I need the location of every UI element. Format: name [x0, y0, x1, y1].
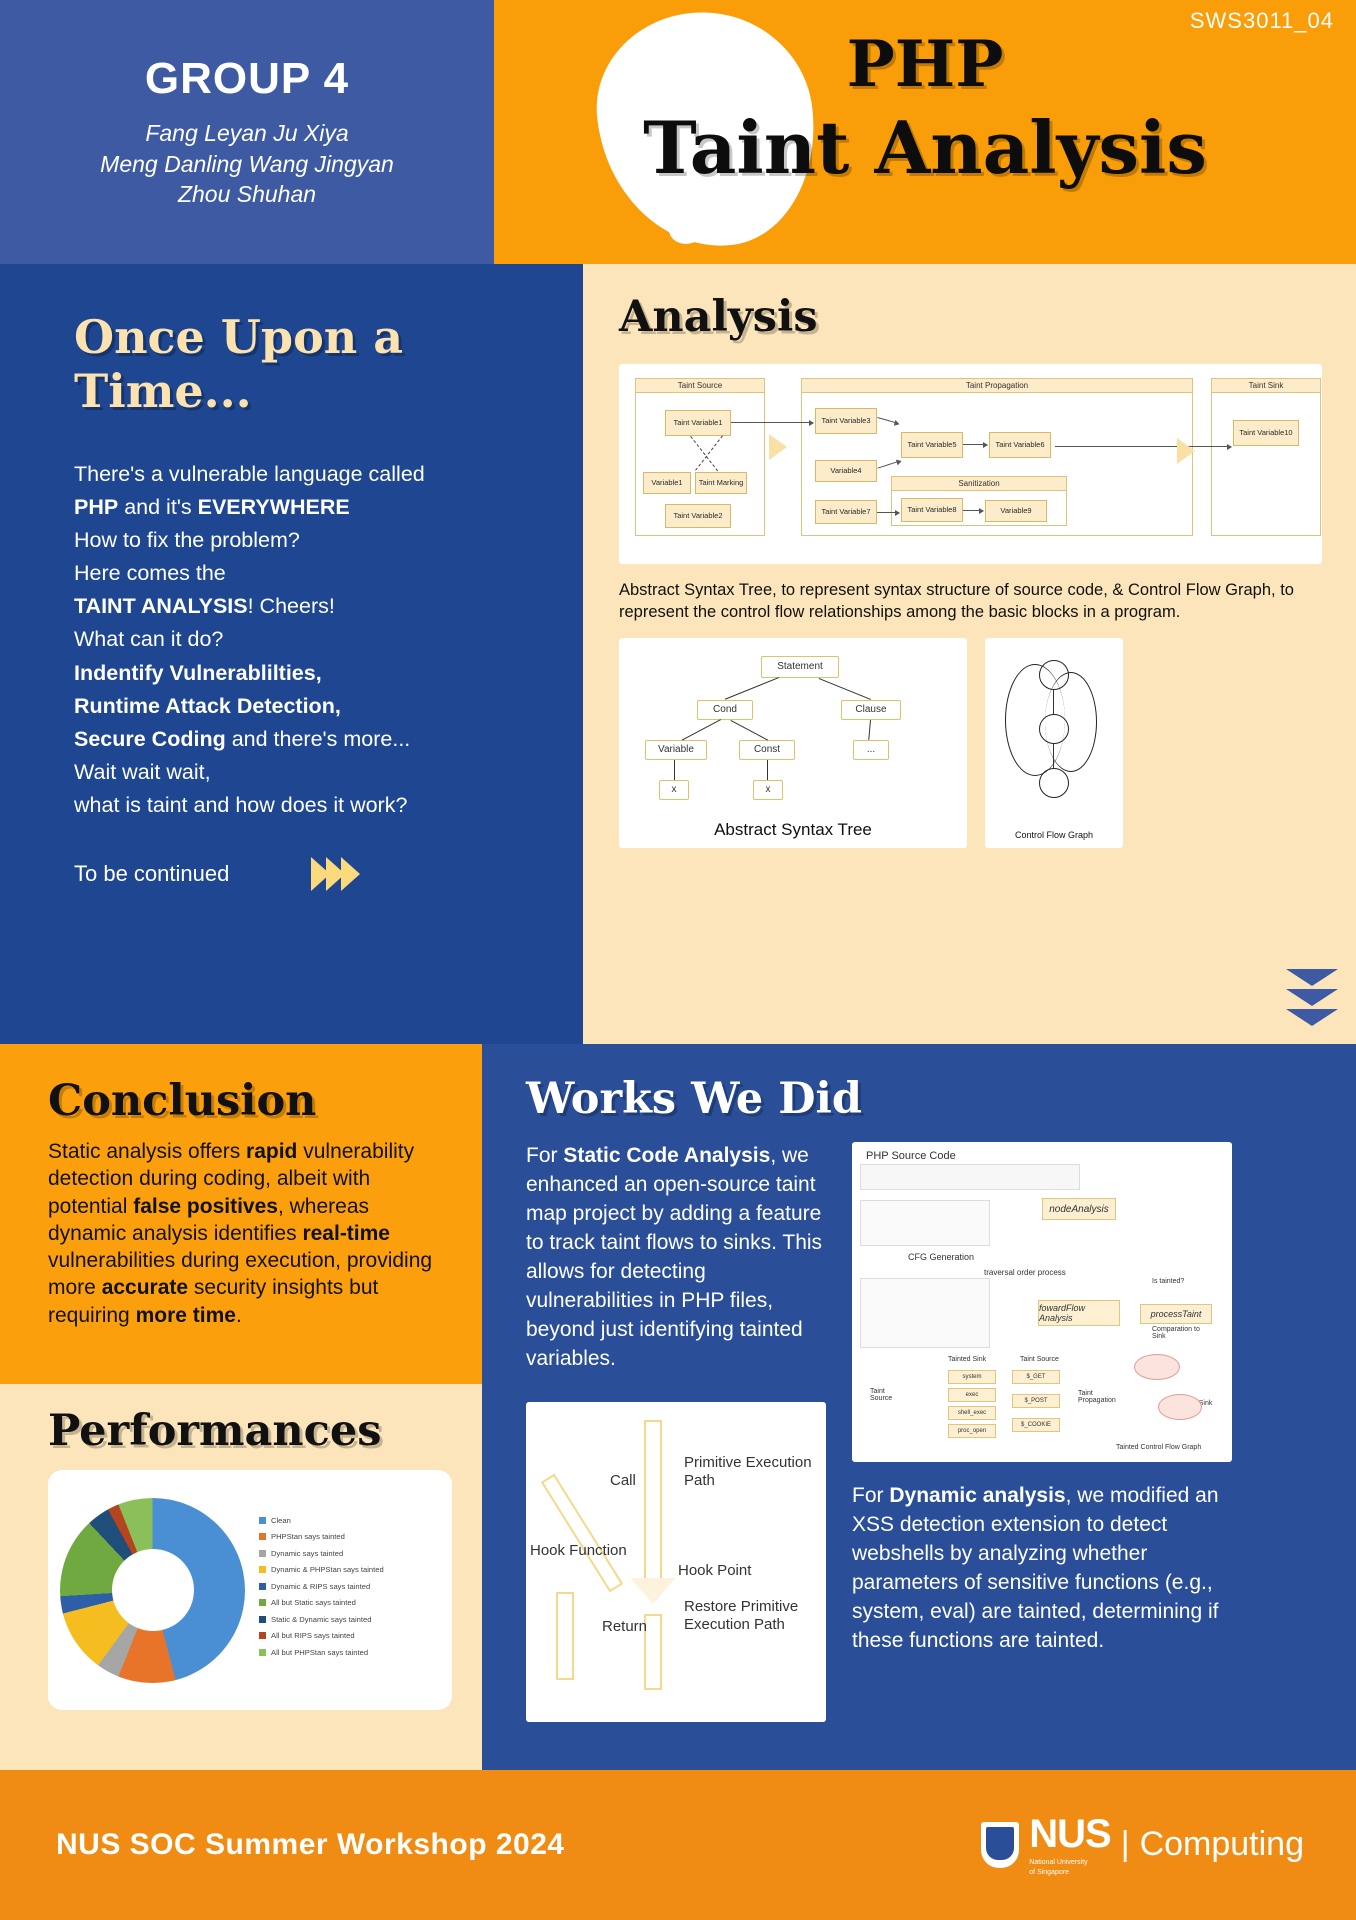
conclusion-kw-false-positives: false positives: [133, 1195, 278, 1218]
taint-sink-group: Taint Sink: [1211, 378, 1321, 536]
works-dynamic-prefix: For: [852, 1484, 889, 1507]
nus-shield-icon: [981, 1822, 1019, 1868]
php-node-cookie: $_COOKIE: [1012, 1418, 1060, 1432]
node-taint-variable3: Taint Variable3: [815, 408, 877, 434]
node-variable1: Variable1: [643, 472, 691, 494]
legend-swatch-icon: [259, 1649, 266, 1656]
node-variable4: Variable4: [815, 460, 877, 482]
section-analysis: Analysis Taint Source Taint Variable1 Va…: [583, 264, 1356, 1044]
nus-logo: NUS National University of Singapore | C…: [981, 1812, 1304, 1878]
php-node-processtaint: processTaint: [1140, 1304, 1212, 1324]
works-kw-dynamic-analysis: Dynamic analysis: [889, 1484, 1065, 1507]
header-title-panel: SWS3011_04 PHP Taint Analysis: [494, 0, 1356, 264]
legend-label: Clean: [271, 1516, 291, 1525]
php-label-traversal-order-process: traversal order process: [984, 1268, 1066, 1277]
member-line-2: Meng Danling Wang Jingyan: [100, 151, 394, 177]
legend-label: Dynamic & PHPStan says tainted: [271, 1565, 384, 1574]
footer-text: NUS SOC Summer Workshop 2024: [56, 1828, 565, 1862]
legend-item: All but RIPS says tainted: [259, 1631, 440, 1640]
php-label-taint-source-hdr: Taint Source: [1020, 1356, 1059, 1363]
taint-flow-diagram: Taint Source Taint Variable1 Variable1 T…: [619, 364, 1322, 564]
php-node-proc-open: proc_open: [948, 1424, 996, 1438]
hook-label-call: Call: [610, 1472, 636, 1490]
to-be-continued-row: To be continued: [74, 857, 535, 891]
legend-item: Dynamic says tainted: [259, 1549, 440, 1558]
story-kw-everywhere: EVERYWHERE: [198, 495, 350, 519]
ast-node-x-left: x: [659, 780, 689, 800]
legend-swatch-icon: [259, 1632, 266, 1639]
cfg-caption: Control Flow Graph: [985, 830, 1123, 840]
flow-arrow-icon: [1177, 438, 1195, 464]
story-line-9: Secure Coding and there's more...: [74, 724, 535, 755]
legend-item: Dynamic & RIPS says tainted: [259, 1582, 440, 1591]
conclusion-s1: Static analysis offers: [48, 1140, 246, 1163]
hook-arrow-shaft: [556, 1592, 574, 1680]
group-title: GROUP 4: [145, 54, 349, 104]
nus-logo-sub-2: of Singapore: [1029, 1869, 1110, 1877]
works-left-column: For Static Code Analysis, we enhanced an…: [526, 1142, 826, 1722]
edge-arrow: [963, 510, 983, 511]
ast-node-clause: Clause: [841, 700, 901, 720]
node-taint-variable5: Taint Variable5: [901, 432, 963, 458]
section-performances: Performances CleanPHPStan says taintedDy…: [0, 1384, 482, 1770]
works-static-rest: , we enhanced an open-source taint map p…: [526, 1144, 822, 1370]
node-taint-variable10: Taint Variable10: [1233, 420, 1299, 446]
page-title-line-2: Taint Analysis: [494, 104, 1356, 192]
conclusion-kw-more-time: more time: [136, 1304, 236, 1327]
page-title: PHP Taint Analysis: [494, 26, 1356, 192]
chevron-right-icon-group: [315, 857, 360, 891]
performance-pie-chart: CleanPHPStan says taintedDynamic says ta…: [48, 1470, 452, 1710]
legend-swatch-icon: [259, 1550, 266, 1557]
php-label-tainted-sink: Tainted Sink: [948, 1356, 986, 1363]
php-taint-pipeline-diagram: PHP Source Code PHP Parser CFG Generatio…: [852, 1142, 1232, 1462]
php-label-taint-source: Taint Source: [870, 1388, 906, 1402]
story-heading: Once Upon a Time...: [74, 310, 535, 419]
story-line-10: Wait wait wait,: [74, 757, 535, 788]
story-line-4: Here comes the: [74, 558, 535, 589]
ast-node-ellipsis: ...: [853, 740, 889, 760]
hook-label-restore-primitive-execution-path: Restore Primitive Execution Path: [684, 1598, 826, 1634]
hook-arrow-shaft: [644, 1420, 662, 1580]
conclusion-kw-accurate: accurate: [102, 1276, 188, 1299]
story-line-1: There's a vulnerable language called: [74, 459, 535, 490]
works-grid: For Static Code Analysis, we enhanced an…: [526, 1142, 1316, 1722]
hook-arrow-shaft: [541, 1473, 623, 1592]
flow-arrow-icon: [769, 434, 787, 460]
abstract-syntax-tree-diagram: Statement Cond Clause Variable Const ...…: [619, 638, 967, 848]
legend-swatch-icon: [259, 1566, 266, 1573]
legend-swatch-icon: [259, 1517, 266, 1524]
chevron-down-icon: [1286, 1009, 1338, 1026]
nus-logo-divider: |: [1121, 1825, 1130, 1864]
analysis-caption: Abstract Syntax Tree, to represent synta…: [619, 580, 1322, 624]
donut-chart-hole: [112, 1549, 194, 1631]
hook-label-hook-function: Hook Function: [530, 1542, 627, 1560]
php-label-comparation-to-sink: Comparation to Sink: [1152, 1326, 1212, 1340]
hook-label-hook-point: Hook Point: [678, 1562, 751, 1580]
node-taint-variable2: Taint Variable2: [665, 504, 731, 528]
nus-wordmark: NUS National University of Singapore: [1029, 1812, 1110, 1878]
conclusion-body: Static analysis offers rapid vulnerabili…: [48, 1138, 438, 1329]
node-taint-variable7: Taint Variable7: [815, 500, 877, 524]
ast-edge: [674, 760, 675, 780]
legend-item: PHPStan says tainted: [259, 1532, 440, 1541]
ast-node-const: Const: [739, 740, 795, 760]
ast-edge: [725, 677, 779, 700]
works-dynamic-rest: , we modified an XSS detection extension…: [852, 1484, 1219, 1652]
legend-item: All but PHPStan says tainted: [259, 1648, 440, 1657]
ast-edge: [767, 760, 768, 780]
legend-item: Clean: [259, 1516, 440, 1525]
story-line-2-mid: and it's: [118, 495, 197, 519]
nus-logo-computing: Computing: [1140, 1825, 1304, 1864]
taint-propagation-group-title: Taint Propagation: [802, 379, 1192, 393]
php-label-cfg-generation: CFG Generation: [908, 1252, 974, 1262]
story-line-3: How to fix the problem?: [74, 525, 535, 556]
node-taint-variable8: Taint Variable8: [901, 498, 963, 522]
conclusion-kw-real-time: real-time: [302, 1222, 390, 1245]
hook-arrow-head: [630, 1578, 676, 1604]
story-line-7: Indentify Vulnerablilties,: [74, 658, 535, 689]
php-node-code-thumb: [860, 1164, 1080, 1190]
legend-item: All but Static says tainted: [259, 1598, 440, 1607]
conclusion-heading: Conclusion: [48, 1076, 438, 1126]
story-line-9-rest: and there's more...: [226, 727, 411, 751]
ast-caption: Abstract Syntax Tree: [619, 820, 967, 840]
ast-node-x-right: x: [753, 780, 783, 800]
works-static-prefix: For: [526, 1144, 563, 1167]
story-line-6: What can it do?: [74, 624, 535, 655]
nus-logo-sub-1: National University: [1029, 1859, 1110, 1867]
group-members: Fang Leyan Ju Xiya Meng Danling Wang Jin…: [100, 118, 394, 209]
section-conclusion: Conclusion Static analysis offers rapid …: [0, 1044, 482, 1384]
legend-item: Dynamic & PHPStan says tainted: [259, 1565, 440, 1574]
php-node-post: $_POST: [1012, 1394, 1060, 1408]
donut-chart: [60, 1498, 245, 1683]
node-variable9: Variable9: [985, 500, 1047, 522]
taint-source-group-title: Taint Source: [636, 379, 764, 393]
story-line-8: Runtime Attack Detection,: [74, 691, 535, 722]
sanitization-group-title: Sanitization: [892, 477, 1066, 491]
story-kw-runtime: Runtime Attack Detection,: [74, 694, 341, 718]
node-taint-variable6: Taint Variable6: [989, 432, 1051, 458]
works-heading: Works We Did: [526, 1074, 1316, 1124]
decorative-blob-tiny-icon: [707, 223, 724, 237]
taint-sink-group-title: Taint Sink: [1212, 379, 1320, 393]
php-node-cfg-thumb: [860, 1278, 990, 1348]
legend-label: PHPStan says tainted: [271, 1532, 345, 1541]
story-line-11: what is taint and how does it work?: [74, 790, 535, 821]
story-line-5: TAINT ANALYSIS! Cheers!: [74, 591, 535, 622]
story-kw-taint-analysis: TAINT ANALYSIS: [74, 594, 248, 618]
ast-node-variable: Variable: [645, 740, 707, 760]
php-node-get: $_GET: [1012, 1370, 1060, 1384]
member-line-3: Zhou Shuhan: [178, 181, 316, 207]
legend-label: All but RIPS says tainted: [271, 1631, 355, 1640]
chevron-right-icon: [341, 857, 360, 891]
ast-edge: [731, 720, 769, 741]
legend-item: Static & Dynamic says tainted: [259, 1615, 440, 1624]
legend-label: All but Static says tainted: [271, 1598, 356, 1607]
analysis-diagram-row: Statement Cond Clause Variable Const ...…: [619, 638, 1322, 848]
ast-edge: [868, 719, 871, 739]
pie-chart-legend: CleanPHPStan says taintedDynamic says ta…: [259, 1516, 440, 1664]
ast-edge: [682, 719, 721, 741]
php-label-is-tainted: Is tainted?: [1152, 1278, 1184, 1285]
ast-node-statement: Statement: [761, 656, 839, 678]
story-kw-php: PHP: [74, 495, 118, 519]
works-right-column: PHP Source Code PHP Parser CFG Generatio…: [852, 1142, 1232, 1722]
works-static-paragraph: For Static Code Analysis, we enhanced an…: [526, 1142, 826, 1374]
node-taint-variable1: Taint Variable1: [665, 410, 731, 436]
php-label-taint-propagation: Taint Propagation: [1078, 1390, 1118, 1404]
legend-swatch-icon: [259, 1616, 266, 1623]
hook-label-return: Return: [602, 1618, 647, 1636]
php-node-nodeanalysis: nodeAnalysis: [1042, 1198, 1116, 1220]
page-title-line-1: PHP: [494, 26, 1356, 104]
chevron-down-icon: [1286, 969, 1338, 986]
ast-edge: [819, 678, 871, 700]
php-node-taint-source-bubble: [1134, 1354, 1180, 1380]
chevron-down-icon: [1286, 989, 1338, 1006]
header-group-panel: GROUP 4 Fang Leyan Ju Xiya Meng Danling …: [0, 0, 494, 264]
story-line-2: PHP and it's EVERYWHERE: [74, 492, 535, 523]
php-node-exec: exec: [948, 1388, 996, 1402]
php-label-tainted-control-flow-graph: Tainted Control Flow Graph: [1116, 1444, 1201, 1451]
member-line-1: Fang Leyan Ju Xiya: [145, 120, 348, 146]
edge-arrow: [731, 422, 813, 423]
legend-label: Dynamic says tainted: [271, 1549, 343, 1558]
ast-node-cond: Cond: [697, 700, 753, 720]
hook-mechanism-diagram: Call Primitive Execution Path Hook Funct…: [526, 1402, 826, 1722]
footer: NUS SOC Summer Workshop 2024 NUS Nationa…: [0, 1770, 1356, 1920]
hook-label-primitive-execution-path: Primitive Execution Path: [684, 1454, 826, 1490]
legend-label: Dynamic & RIPS says tainted: [271, 1582, 370, 1591]
cfg-loop-edge: [1045, 672, 1097, 772]
legend-label: All but PHPStan says tainted: [271, 1648, 368, 1657]
works-kw-static-code-analysis: Static Code Analysis: [563, 1144, 770, 1167]
php-node-taint-sink-bubble: [1158, 1394, 1202, 1420]
edge-arrow: [1055, 446, 1231, 447]
works-dynamic-paragraph: For Dynamic analysis, we modified an XSS…: [852, 1482, 1232, 1656]
poster-root: GROUP 4 Fang Leyan Ju Xiya Meng Danling …: [0, 0, 1356, 1920]
nus-logo-word: NUS: [1029, 1812, 1110, 1857]
decorative-blob-small-icon: [669, 216, 703, 244]
edge-arrow: [963, 444, 987, 445]
to-be-continued-label: To be continued: [74, 861, 229, 887]
section-works-we-did: Works We Did For Static Code Analysis, w…: [482, 1044, 1356, 1770]
node-taint-marking: Taint Marking: [695, 472, 747, 494]
php-node-shell-exec: shell_exec: [948, 1406, 996, 1420]
legend-swatch-icon: [259, 1583, 266, 1590]
php-node-forwardflow-analysis: fowardFlow Analysis: [1038, 1300, 1120, 1326]
story-line-5-rest: ! Cheers!: [248, 594, 335, 618]
php-node-system: system: [948, 1370, 996, 1384]
story-kw-secure-coding: Secure Coding: [74, 727, 226, 751]
chevron-down-icon-group: [1286, 966, 1338, 1026]
performances-heading: Performances: [48, 1406, 452, 1456]
php-node-ast-thumb: [860, 1200, 990, 1246]
story-kw-identify: Indentify Vulnerablilties,: [74, 661, 322, 685]
control-flow-graph-diagram: Control Flow Graph: [985, 638, 1123, 848]
conclusion-s6: .: [236, 1304, 242, 1327]
legend-swatch-icon: [259, 1533, 266, 1540]
conclusion-kw-rapid: rapid: [246, 1140, 297, 1163]
edge-arrow: [877, 512, 899, 513]
legend-swatch-icon: [259, 1599, 266, 1606]
section-once-upon-a-time: Once Upon a Time... There's a vulnerable…: [0, 264, 583, 1044]
legend-label: Static & Dynamic says tainted: [271, 1615, 371, 1624]
php-label-source-code: PHP Source Code: [866, 1150, 956, 1162]
analysis-heading: Analysis: [619, 292, 1322, 342]
